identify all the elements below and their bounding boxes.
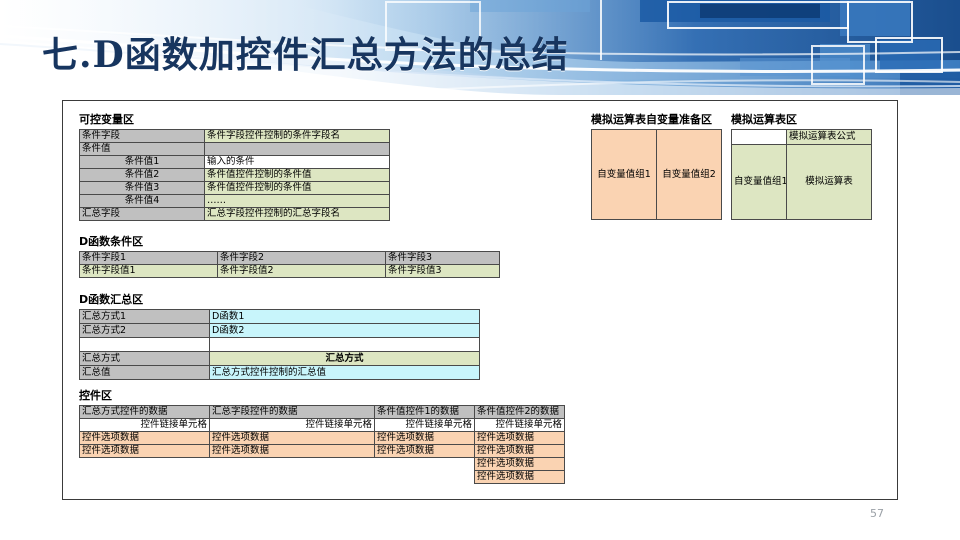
da-left-cell: 自变量值组1或2	[732, 145, 787, 220]
content-panel: 可控变量区 条件字段条件字段控件控制的条件字段名条件值条件值1输入的条件条件值2…	[62, 100, 898, 500]
ds-label-cell	[80, 338, 210, 352]
cv-label-cell: 汇总字段	[80, 208, 205, 221]
dfunc-summary-row: 汇总方式2D函数2	[80, 324, 480, 338]
section-title-dfunc-condition: D函数条件区	[79, 233, 143, 249]
ct-option-cell: 控件选项数据	[210, 445, 375, 458]
ct-empty-cell	[375, 458, 475, 471]
table-datatable-prep: 自变量值组1自变量值组2	[591, 129, 722, 220]
ct-option-cell: 控件选项数据	[475, 458, 565, 471]
table-dfunc-summary: 汇总方式1D函数1汇总方式2D函数2汇总方式汇总方式汇总值汇总方式控件控制的汇总…	[79, 309, 480, 380]
cv-label-cell: 条件值4	[80, 195, 205, 208]
ct-empty-cell	[210, 458, 375, 471]
table-controls: 汇总方式控件的数据汇总字段控件的数据条件值控件1的数据条件值控件2的数据控件链接…	[79, 405, 565, 484]
ds-value-cell: D函数1	[210, 310, 480, 324]
controls-link-row: 控件链接单元格控件链接单元格控件链接单元格控件链接单元格	[80, 419, 565, 432]
ct-option-cell: 控件选项数据	[375, 432, 475, 445]
ct-option-cell: 控件选项数据	[80, 432, 210, 445]
dp-cell: 自变量值组1	[592, 130, 657, 220]
controllable-var-row: 条件值2条件值控件控制的条件值	[80, 169, 390, 182]
table-controllable-vars: 条件字段条件字段控件控制的条件字段名条件值条件值1输入的条件条件值2条件值控件控…	[79, 129, 390, 221]
controllable-var-row: 汇总字段汇总字段控件控制的汇总字段名	[80, 208, 390, 221]
dc-value-cell: 条件字段值3	[386, 265, 500, 278]
ds-label-cell: 汇总方式2	[80, 324, 210, 338]
ct-link-cell: 控件链接单元格	[375, 419, 475, 432]
ct-link-cell: 控件链接单元格	[80, 419, 210, 432]
da-formula-cell: 模拟运算表公式	[787, 130, 872, 145]
da-blank-cell	[732, 130, 787, 145]
dc-header-cell: 条件字段1	[80, 252, 218, 265]
dfunc-condition-value-row: 条件字段值1条件字段值2条件字段值3	[80, 265, 500, 278]
cv-value-cell: 条件值控件控制的条件值	[205, 169, 390, 182]
dfunc-summary-row: 汇总值汇总方式控件控制的汇总值	[80, 366, 480, 380]
ct-option-cell: 控件选项数据	[475, 432, 565, 445]
cv-label-cell: 条件值3	[80, 182, 205, 195]
ds-label-cell: 汇总值	[80, 366, 210, 380]
cv-value-cell	[205, 143, 390, 156]
dfunc-summary-row	[80, 338, 480, 352]
datatable-area-header-row: 模拟运算表公式	[732, 130, 872, 145]
ds-value-cell: D函数2	[210, 324, 480, 338]
ds-label-cell: 汇总方式1	[80, 310, 210, 324]
page-number: 57	[870, 507, 884, 520]
controls-header-row: 汇总方式控件的数据汇总字段控件的数据条件值控件1的数据条件值控件2的数据	[80, 406, 565, 419]
section-title-datatable-area: 模拟运算表区	[731, 111, 797, 127]
dfunc-summary-row: 汇总方式汇总方式	[80, 352, 480, 366]
cv-value-cell: 条件字段控件控制的条件字段名	[205, 130, 390, 143]
ct-option-cell: 控件选项数据	[80, 445, 210, 458]
ct-option-cell: 控件选项数据	[210, 432, 375, 445]
table-datatable-area: 模拟运算表公式自变量值组1或2模拟运算表	[731, 129, 872, 220]
controllable-var-row: 条件字段条件字段控件控制的条件字段名	[80, 130, 390, 143]
cv-value-cell: 条件值控件控制的条件值	[205, 182, 390, 195]
controls-option-row: 控件选项数据控件选项数据控件选项数据控件选项数据	[80, 432, 565, 445]
controls-option-row: 控件选项数据	[80, 471, 565, 484]
section-title-controllable-vars: 可控变量区	[79, 111, 134, 127]
section-title-dfunc-summary: D函数汇总区	[79, 291, 143, 307]
cv-label-cell: 条件值1	[80, 156, 205, 169]
ds-value-cell	[210, 338, 480, 352]
controllable-var-row: 条件值3条件值控件控制的条件值	[80, 182, 390, 195]
ct-header-cell: 汇总字段控件的数据	[210, 406, 375, 419]
ct-header-cell: 条件值控件1的数据	[375, 406, 475, 419]
ds-value-cell: 汇总方式控件控制的汇总值	[210, 366, 480, 380]
cv-value-cell: ……	[205, 195, 390, 208]
dc-header-cell: 条件字段3	[386, 252, 500, 265]
page-title: 七.D函数加控件汇总方法的总结	[42, 26, 569, 78]
ct-option-cell: 控件选项数据	[475, 445, 565, 458]
section-title-datatable-prep: 模拟运算表自变量准备区	[591, 111, 712, 127]
ct-header-cell: 条件值控件2的数据	[475, 406, 565, 419]
section-title-controls: 控件区	[79, 387, 112, 403]
dc-header-cell: 条件字段2	[218, 252, 386, 265]
controls-option-row: 控件选项数据	[80, 458, 565, 471]
ct-link-cell: 控件链接单元格	[210, 419, 375, 432]
ds-value-cell: 汇总方式	[210, 352, 480, 366]
ct-option-cell: 控件选项数据	[375, 445, 475, 458]
slide-banner: 七.D函数加控件汇总方法的总结	[0, 0, 960, 95]
cv-label-cell: 条件值	[80, 143, 205, 156]
dc-value-cell: 条件字段值2	[218, 265, 386, 278]
datatable-prep-row: 自变量值组1自变量值组2	[592, 130, 722, 220]
da-right-cell: 模拟运算表	[787, 145, 872, 220]
ct-link-cell: 控件链接单元格	[475, 419, 565, 432]
controls-option-row: 控件选项数据控件选项数据控件选项数据控件选项数据	[80, 445, 565, 458]
cv-label-cell: 条件值2	[80, 169, 205, 182]
cv-label-cell: 条件字段	[80, 130, 205, 143]
controllable-var-row: 条件值4……	[80, 195, 390, 208]
cv-value-cell: 输入的条件	[205, 156, 390, 169]
controllable-var-row: 条件值1输入的条件	[80, 156, 390, 169]
dc-value-cell: 条件字段值1	[80, 265, 218, 278]
datatable-area-body-row: 自变量值组1或2模拟运算表	[732, 145, 872, 220]
table-dfunc-condition: 条件字段1条件字段2条件字段3条件字段值1条件字段值2条件字段值3	[79, 251, 500, 278]
ct-empty-cell	[80, 471, 210, 484]
ds-label-cell: 汇总方式	[80, 352, 210, 366]
ct-empty-cell	[210, 471, 375, 484]
dp-cell: 自变量值组2	[657, 130, 722, 220]
cv-value-cell: 汇总字段控件控制的汇总字段名	[205, 208, 390, 221]
dfunc-summary-row: 汇总方式1D函数1	[80, 310, 480, 324]
dfunc-condition-header-row: 条件字段1条件字段2条件字段3	[80, 252, 500, 265]
ct-empty-cell	[375, 471, 475, 484]
controllable-var-row: 条件值	[80, 143, 390, 156]
ct-header-cell: 汇总方式控件的数据	[80, 406, 210, 419]
ct-option-cell: 控件选项数据	[475, 471, 565, 484]
ct-empty-cell	[80, 458, 210, 471]
